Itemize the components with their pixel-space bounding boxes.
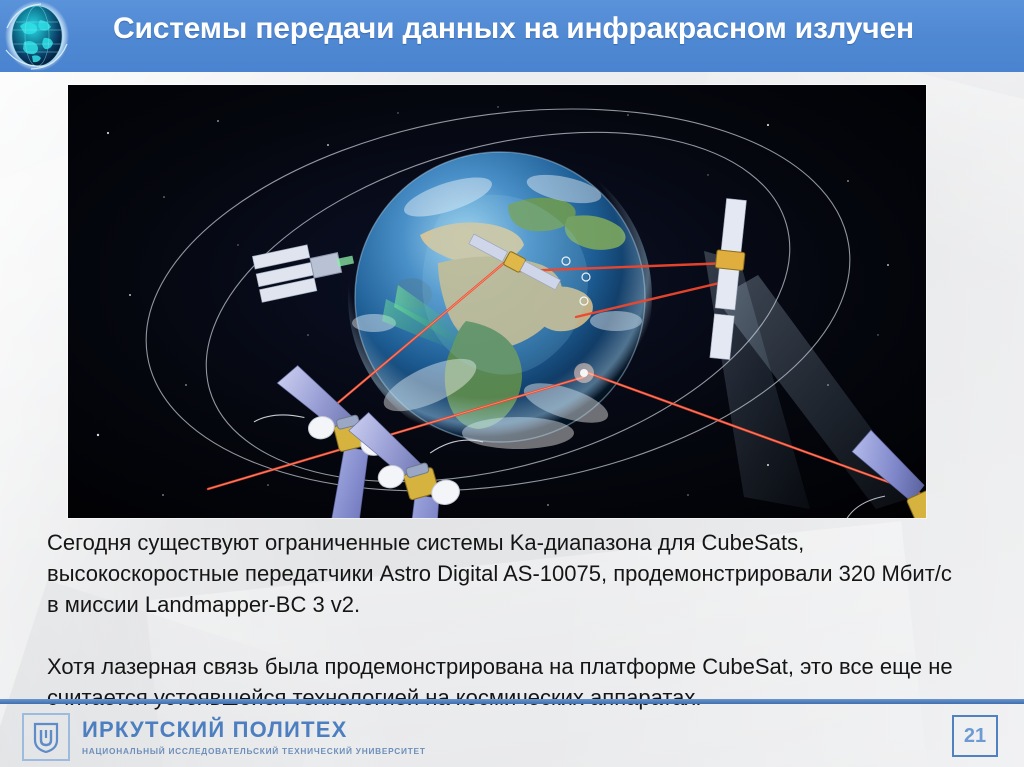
- body-paragraph-1-line-2: высокоскоростные передатчики Astro Digit…: [47, 558, 987, 589]
- page-title: Системы передачи данных на инфракрасном …: [113, 12, 914, 46]
- satellite-laser-relay-illustration: [68, 85, 926, 518]
- body-paragraph-1-line-1: Сегодня существуют ограниченные системы …: [47, 527, 987, 558]
- university-wordmark: ИРКУТСКИЙ ПОЛИТЕХ НАЦИОНАЛЬНЫЙ ИССЛЕДОВА…: [82, 718, 426, 756]
- globe-network-icon: [4, 0, 70, 72]
- university-logo: ИРКУТСКИЙ ПОЛИТЕХ НАЦИОНАЛЬНЫЙ ИССЛЕДОВА…: [22, 713, 426, 761]
- slide-header-bar: Системы передачи данных на инфракрасном …: [0, 0, 1024, 72]
- page-number-badge: 21: [952, 715, 998, 757]
- slide-canvas: Системы передачи данных на инфракрасном …: [0, 0, 1024, 767]
- body-paragraph-1-line-3: в миссии Landmapper-BC 3 v2.: [47, 589, 987, 620]
- paragraph-spacer: [47, 620, 987, 651]
- university-name: ИРКУТСКИЙ ПОЛИТЕХ: [82, 718, 426, 742]
- slide-body-text: Сегодня существуют ограниченные системы …: [47, 527, 987, 713]
- university-subtitle: НАЦИОНАЛЬНЫЙ ИССЛЕДОВАТЕЛЬСКИЙ ТЕХНИЧЕСК…: [82, 746, 426, 756]
- shield-emblem-icon: [22, 713, 70, 761]
- slide-footer: ИРКУТСКИЙ ПОЛИТЕХ НАЦИОНАЛЬНЫЙ ИССЛЕДОВА…: [0, 704, 1024, 767]
- body-paragraph-2-line-1: Хотя лазерная связь была продемонстриров…: [47, 651, 987, 682]
